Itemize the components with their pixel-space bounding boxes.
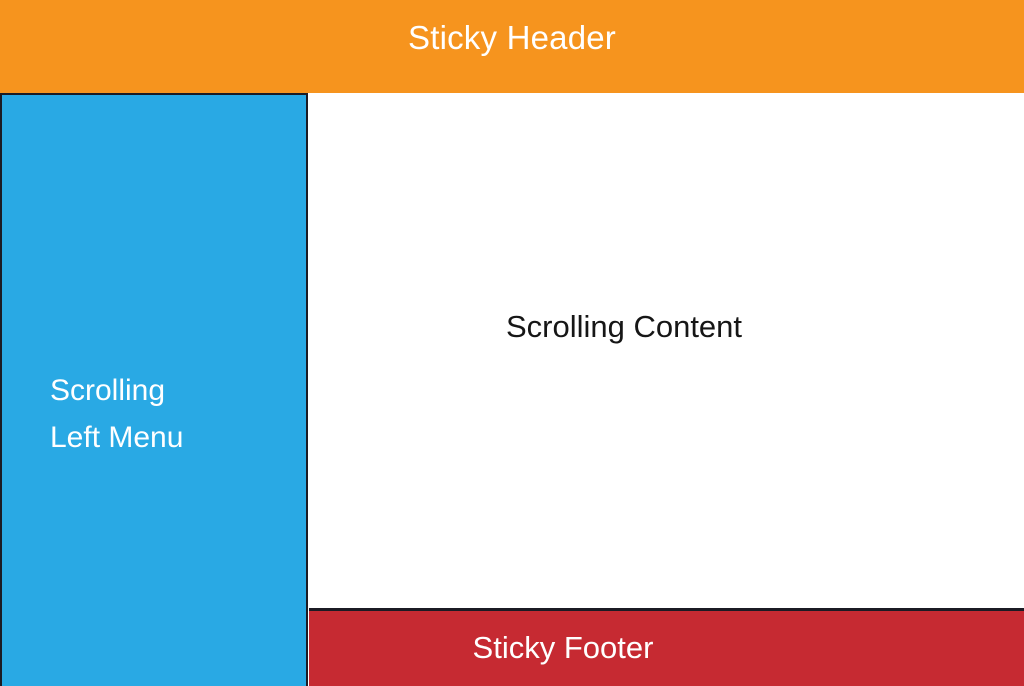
sticky-header: Sticky Header [0,0,1024,93]
scrolling-left-menu[interactable]: Scrolling Left Menu [0,93,308,686]
left-menu-label: Scrolling Left Menu [50,367,183,461]
sticky-footer: Sticky Footer [309,608,1024,686]
footer-title: Sticky Footer [309,632,817,663]
header-title: Sticky Header [0,0,1024,93]
page-root: Sticky Header Scrolling Left Menu Scroll… [0,0,1024,686]
scrolling-content-area[interactable]: Scrolling Content [308,93,1024,608]
content-label: Scrolling Content [308,311,940,342]
